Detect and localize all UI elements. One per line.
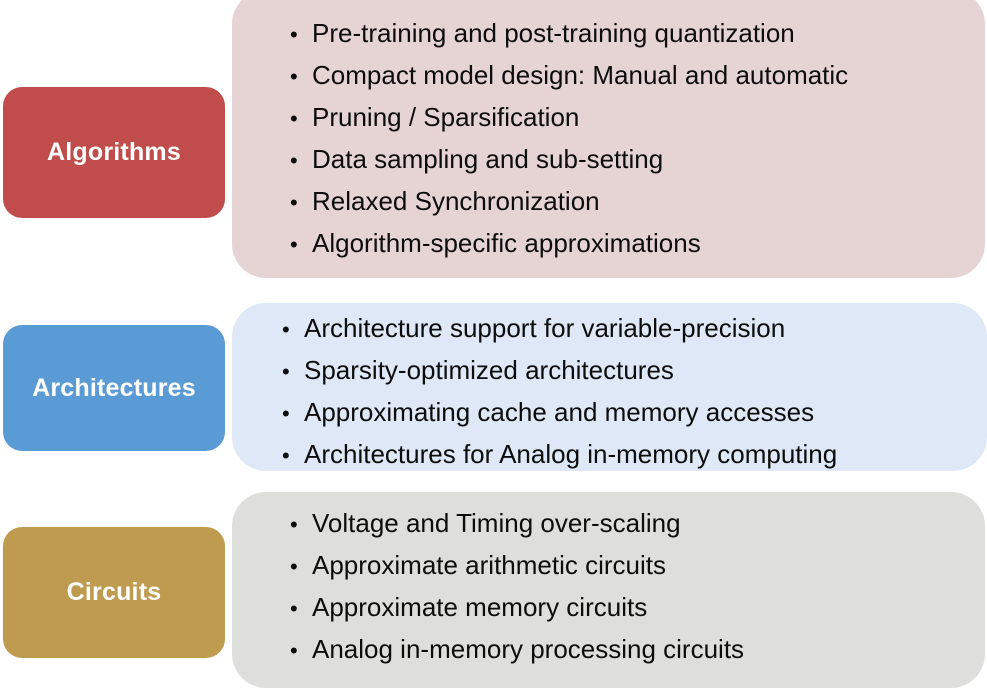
bullet-label: Architectures for Analog in-memory compu… [304,441,837,467]
bullet-dot-icon: • [290,234,312,256]
list-item: • Voltage and Timing over-scaling [290,510,985,552]
approximate-computing-stack-diagram: • Pre-training and post-training quantiz… [0,0,987,692]
list-item: • Architecture support for variable-prec… [282,315,987,357]
bullet-dot-icon: • [290,598,312,620]
label-box-algorithms: Algorithms [3,87,225,218]
bullet-dot-icon: • [290,556,312,578]
bullet-list-architectures: • Architecture support for variable-prec… [232,303,987,471]
bullet-label: Approximate memory circuits [312,594,647,620]
bullet-dot-icon: • [290,640,312,662]
bullet-label: Relaxed Synchronization [312,188,600,214]
label-box-title: Circuits [67,580,162,605]
list-item: • Pruning / Sparsification [290,104,985,146]
bullet-dot-icon: • [290,24,312,46]
label-box-circuits: Circuits [3,527,225,658]
list-item: • Analog in-memory processing circuits [290,636,985,678]
bullet-label: Pruning / Sparsification [312,104,579,130]
bullet-label: Compact model design: Manual and automat… [312,62,848,88]
list-item: • Relaxed Synchronization [290,188,985,230]
list-item: • Data sampling and sub-setting [290,146,985,188]
bullet-dot-icon: • [290,150,312,172]
bullet-dot-icon: • [282,361,304,383]
bullet-label: Sparsity-optimized architectures [304,357,674,383]
bullet-dot-icon: • [290,514,312,536]
bullet-list-algorithms: • Pre-training and post-training quantiz… [232,0,985,272]
bullet-label: Pre-training and post-training quantizat… [312,20,795,46]
bullet-list-circuits: • Voltage and Timing over-scaling • Appr… [232,492,985,678]
panel-architectures: • Architecture support for variable-prec… [232,303,987,471]
bullet-dot-icon: • [290,66,312,88]
bullet-dot-icon: • [290,108,312,130]
bullet-label: Data sampling and sub-setting [312,146,663,172]
label-box-title: Algorithms [47,140,181,165]
bullet-dot-icon: • [282,319,304,341]
panel-algorithms: • Pre-training and post-training quantiz… [232,0,985,278]
bullet-label: Architecture support for variable-precis… [304,315,785,341]
list-item: • Architectures for Analog in-memory com… [282,441,987,471]
bullet-label: Voltage and Timing over-scaling [312,510,681,536]
list-item: • Approximate memory circuits [290,594,985,636]
list-item: • Approximating cache and memory accesse… [282,399,987,441]
list-item: • Algorithm-specific approximations [290,230,985,272]
bullet-label: Approximating cache and memory accesses [304,399,814,425]
list-item: • Approximate arithmetic circuits [290,552,985,594]
list-item: • Sparsity-optimized architectures [282,357,987,399]
label-box-architectures: Architectures [3,325,225,451]
bullet-dot-icon: • [282,403,304,425]
bullet-label: Algorithm-specific approximations [312,230,701,256]
bullet-dot-icon: • [290,192,312,214]
label-box-title: Architectures [32,376,196,401]
panel-circuits: • Voltage and Timing over-scaling • Appr… [232,492,985,688]
bullet-label: Analog in-memory processing circuits [312,636,744,662]
list-item: • Pre-training and post-training quantiz… [290,20,985,62]
bullet-dot-icon: • [282,445,304,467]
bullet-label: Approximate arithmetic circuits [312,552,666,578]
list-item: • Compact model design: Manual and autom… [290,62,985,104]
